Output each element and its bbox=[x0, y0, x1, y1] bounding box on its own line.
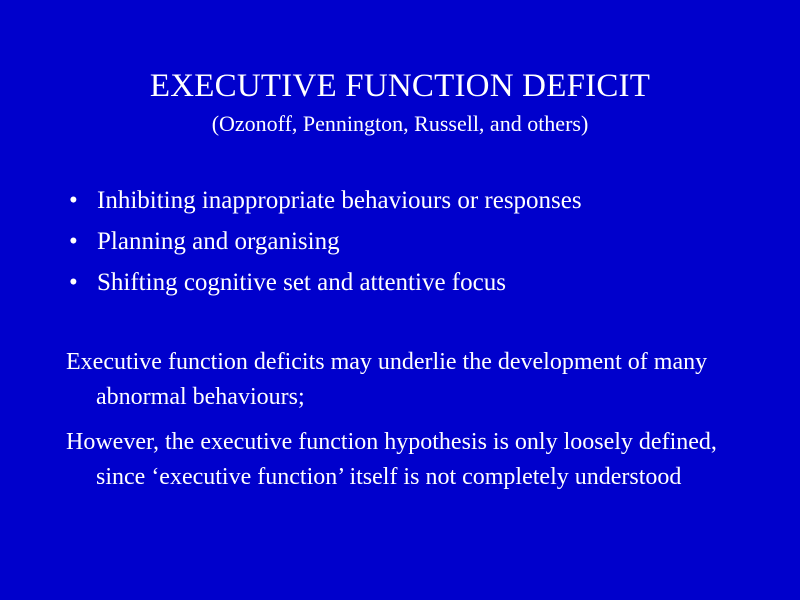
bullet-list: • Inhibiting inappropriate behaviours or… bbox=[66, 180, 746, 303]
body-paragraph: Executive function deficits may underlie… bbox=[66, 345, 726, 415]
body-block: Executive function deficits may underlie… bbox=[66, 345, 726, 495]
body-paragraph: However, the executive function hypothes… bbox=[66, 425, 726, 495]
list-item-label: Shifting cognitive set and attentive foc… bbox=[97, 269, 506, 296]
slide-subtitle: (Ozonoff, Pennington, Russell, and other… bbox=[0, 110, 800, 138]
slide-canvas: EXECUTIVE FUNCTION DEFICIT (Ozonoff, Pen… bbox=[0, 0, 800, 600]
list-item: • Shifting cognitive set and attentive f… bbox=[66, 262, 746, 303]
list-item-label: Planning and organising bbox=[97, 228, 340, 255]
list-item: • Inhibiting inappropriate behaviours or… bbox=[66, 180, 746, 221]
bullet-dot-icon: • bbox=[69, 262, 78, 303]
page-title: EXECUTIVE FUNCTION DEFICIT bbox=[0, 66, 800, 106]
list-item-label: Inhibiting inappropriate behaviours or r… bbox=[97, 187, 582, 214]
title-block: EXECUTIVE FUNCTION DEFICIT (Ozonoff, Pen… bbox=[0, 66, 800, 138]
bullet-dot-icon: • bbox=[69, 221, 78, 262]
list-item: • Planning and organising bbox=[66, 221, 746, 262]
bullet-dot-icon: • bbox=[69, 180, 78, 221]
